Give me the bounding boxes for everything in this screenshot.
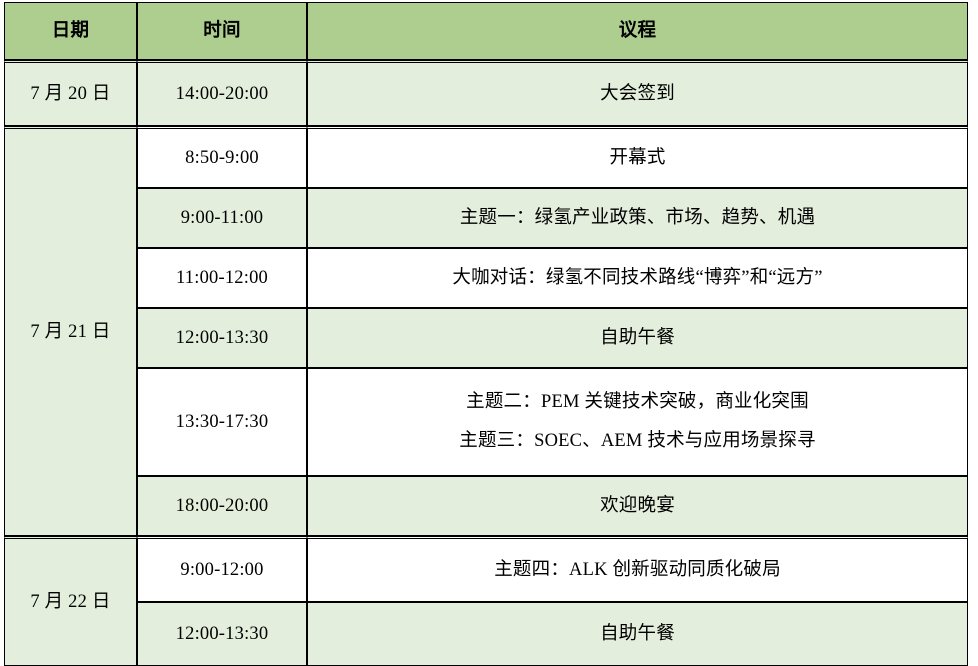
header-row: 日期 时间 议程: [4, 2, 968, 60]
agenda-cell: 自助午餐: [307, 308, 968, 368]
table-row: 18:00-20:00 欢迎晚宴: [4, 476, 968, 536]
agenda-line: 欢迎晚宴: [312, 494, 963, 519]
table-row: 11:00-12:00 大咖对话：绿氢不同技术路线“博弈”和“远方”: [4, 248, 968, 308]
table-row: 9:00-11:00 主题一：绿氢产业政策、市场、趋势、机遇: [4, 188, 968, 248]
time-cell: 8:50-9:00: [137, 126, 307, 188]
table-body: 7 月 20 日 14:00-20:00 大会签到 7 月 21 日 8:50-…: [4, 60, 968, 666]
table-row: 12:00-13:30 自助午餐: [4, 308, 968, 368]
conference-schedule: 日期 时间 议程 7 月 20 日 14:00-20:00 大会签到 7 月 2…: [4, 2, 968, 666]
date-cell-day-1: 7 月 20 日: [4, 60, 137, 126]
agenda-cell: 欢迎晚宴: [307, 476, 968, 536]
time-cell: 9:00-12:00: [137, 536, 307, 602]
agenda-cell: 主题二：PEM 关键技术突破，商业化突围 主题三：SOEC、AEM 技术与应用场…: [307, 368, 968, 476]
time-cell: 14:00-20:00: [137, 60, 307, 126]
agenda-line: 大咖对话：绿氢不同技术路线“博弈”和“远方”: [312, 266, 963, 291]
table-row: 7 月 20 日 14:00-20:00 大会签到: [4, 60, 968, 126]
table-header: 日期 时间 议程: [4, 2, 968, 60]
date-cell-day-3: 7 月 22 日: [4, 536, 137, 666]
agenda-cell: 自助午餐: [307, 602, 968, 666]
agenda-line: 主题一：绿氢产业政策、市场、趋势、机遇: [312, 206, 963, 231]
agenda-line: 主题四：ALK 创新驱动同质化破局: [312, 558, 963, 583]
column-header-item: 议程: [307, 2, 968, 60]
schedule-table: 日期 时间 议程 7 月 20 日 14:00-20:00 大会签到 7 月 2…: [4, 2, 968, 666]
agenda-line: 自助午餐: [312, 326, 963, 351]
time-cell: 11:00-12:00: [137, 248, 307, 308]
table-row: 13:30-17:30 主题二：PEM 关键技术突破，商业化突围 主题三：SOE…: [4, 368, 968, 476]
time-cell: 9:00-11:00: [137, 188, 307, 248]
agenda-cell: 主题四：ALK 创新驱动同质化破局: [307, 536, 968, 602]
agenda-line: 自助午餐: [312, 622, 963, 647]
time-cell: 13:30-17:30: [137, 368, 307, 476]
agenda-cell: 大咖对话：绿氢不同技术路线“博弈”和“远方”: [307, 248, 968, 308]
column-header-date: 日期: [4, 2, 137, 60]
table-row: 12:00-13:30 自助午餐: [4, 602, 968, 666]
column-header-time: 时间: [137, 2, 307, 60]
agenda-line: 大会签到: [312, 82, 963, 107]
agenda-cell: 大会签到: [307, 60, 968, 126]
time-cell: 18:00-20:00: [137, 476, 307, 536]
time-cell: 12:00-13:30: [137, 602, 307, 666]
time-cell: 12:00-13:30: [137, 308, 307, 368]
table-row: 7 月 22 日 9:00-12:00 主题四：ALK 创新驱动同质化破局: [4, 536, 968, 602]
agenda-cell: 开幕式: [307, 126, 968, 188]
agenda-line: 开幕式: [312, 146, 963, 171]
agenda-line: 主题三：SOEC、AEM 技术与应用场景探寻: [312, 429, 963, 454]
agenda-cell: 主题一：绿氢产业政策、市场、趋势、机遇: [307, 188, 968, 248]
table-row: 7 月 21 日 8:50-9:00 开幕式: [4, 126, 968, 188]
agenda-line: 主题二：PEM 关键技术突破，商业化突围: [312, 390, 963, 415]
date-cell-day-2: 7 月 21 日: [4, 126, 137, 536]
